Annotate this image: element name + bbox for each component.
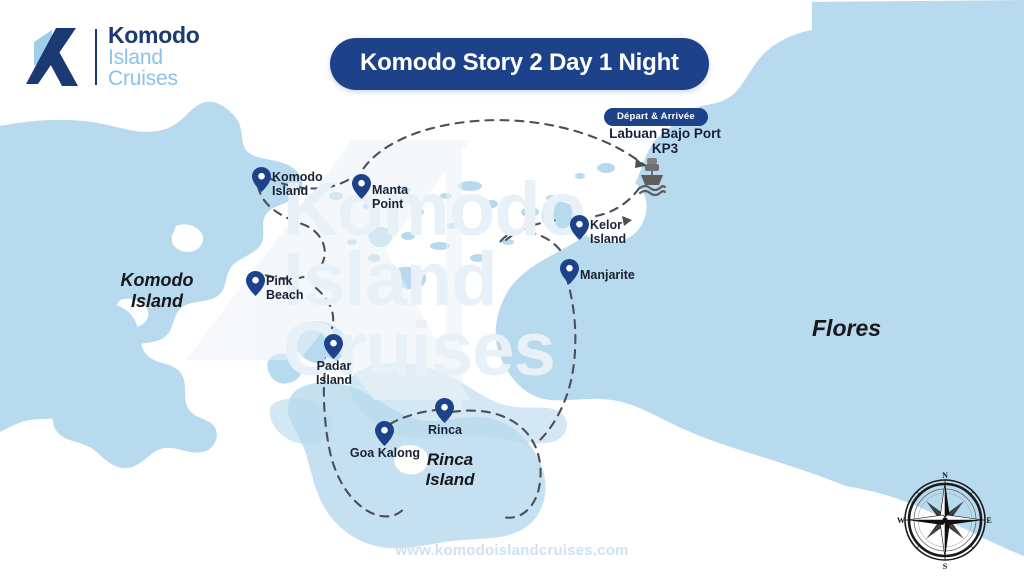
page-title: Komodo Story 2 Day 1 Night xyxy=(330,38,709,90)
location-pin-icon xyxy=(352,174,371,199)
departure-badge: Départ & Arrivée xyxy=(604,108,708,126)
logo-word-island: Island xyxy=(108,47,199,68)
compass-north-label: N xyxy=(942,471,948,480)
logo-divider xyxy=(95,29,97,85)
map-marker-label: Rinca xyxy=(413,423,477,437)
website-url[interactable]: www.komodoislandcruises.com xyxy=(0,542,1024,559)
location-pin-icon xyxy=(560,259,579,284)
cruise-route-map: Komodo Island Cruises Komodo Island Crui… xyxy=(0,0,1024,576)
map-marker-label: Pink Beach xyxy=(266,274,304,303)
map-marker-label: Komodo Island xyxy=(272,170,323,199)
compass-west-label: W xyxy=(897,516,905,525)
logo-word-komodo: Komodo xyxy=(108,24,199,47)
location-pin-icon xyxy=(324,334,343,359)
departure-port-label: Labuan Bajo Port KP3 xyxy=(609,126,721,157)
region-label-rinca-island: Rinca Island xyxy=(410,450,490,489)
komodo-k-logo-icon xyxy=(26,26,84,88)
location-pin-icon xyxy=(570,215,589,240)
location-pin-icon xyxy=(252,167,271,192)
region-label-flores: Flores xyxy=(812,315,881,342)
map-marker-label: Padar Island xyxy=(302,359,366,388)
brand-logo[interactable]: Komodo Island Cruises xyxy=(26,24,199,89)
logo-word-cruises: Cruises xyxy=(108,68,199,89)
map-marker-label: Manta Point xyxy=(372,183,408,212)
map-marker-label: Kelor Island xyxy=(590,218,626,247)
location-pin-icon xyxy=(246,271,265,296)
compass-south-label: S xyxy=(943,562,948,570)
location-pin-icon xyxy=(435,398,454,423)
compass-east-label: E xyxy=(986,516,991,525)
location-pin-icon xyxy=(375,421,394,446)
map-marker-label: Manjarite xyxy=(580,268,635,282)
region-label-komodo-island: Komodo Island xyxy=(112,270,202,312)
